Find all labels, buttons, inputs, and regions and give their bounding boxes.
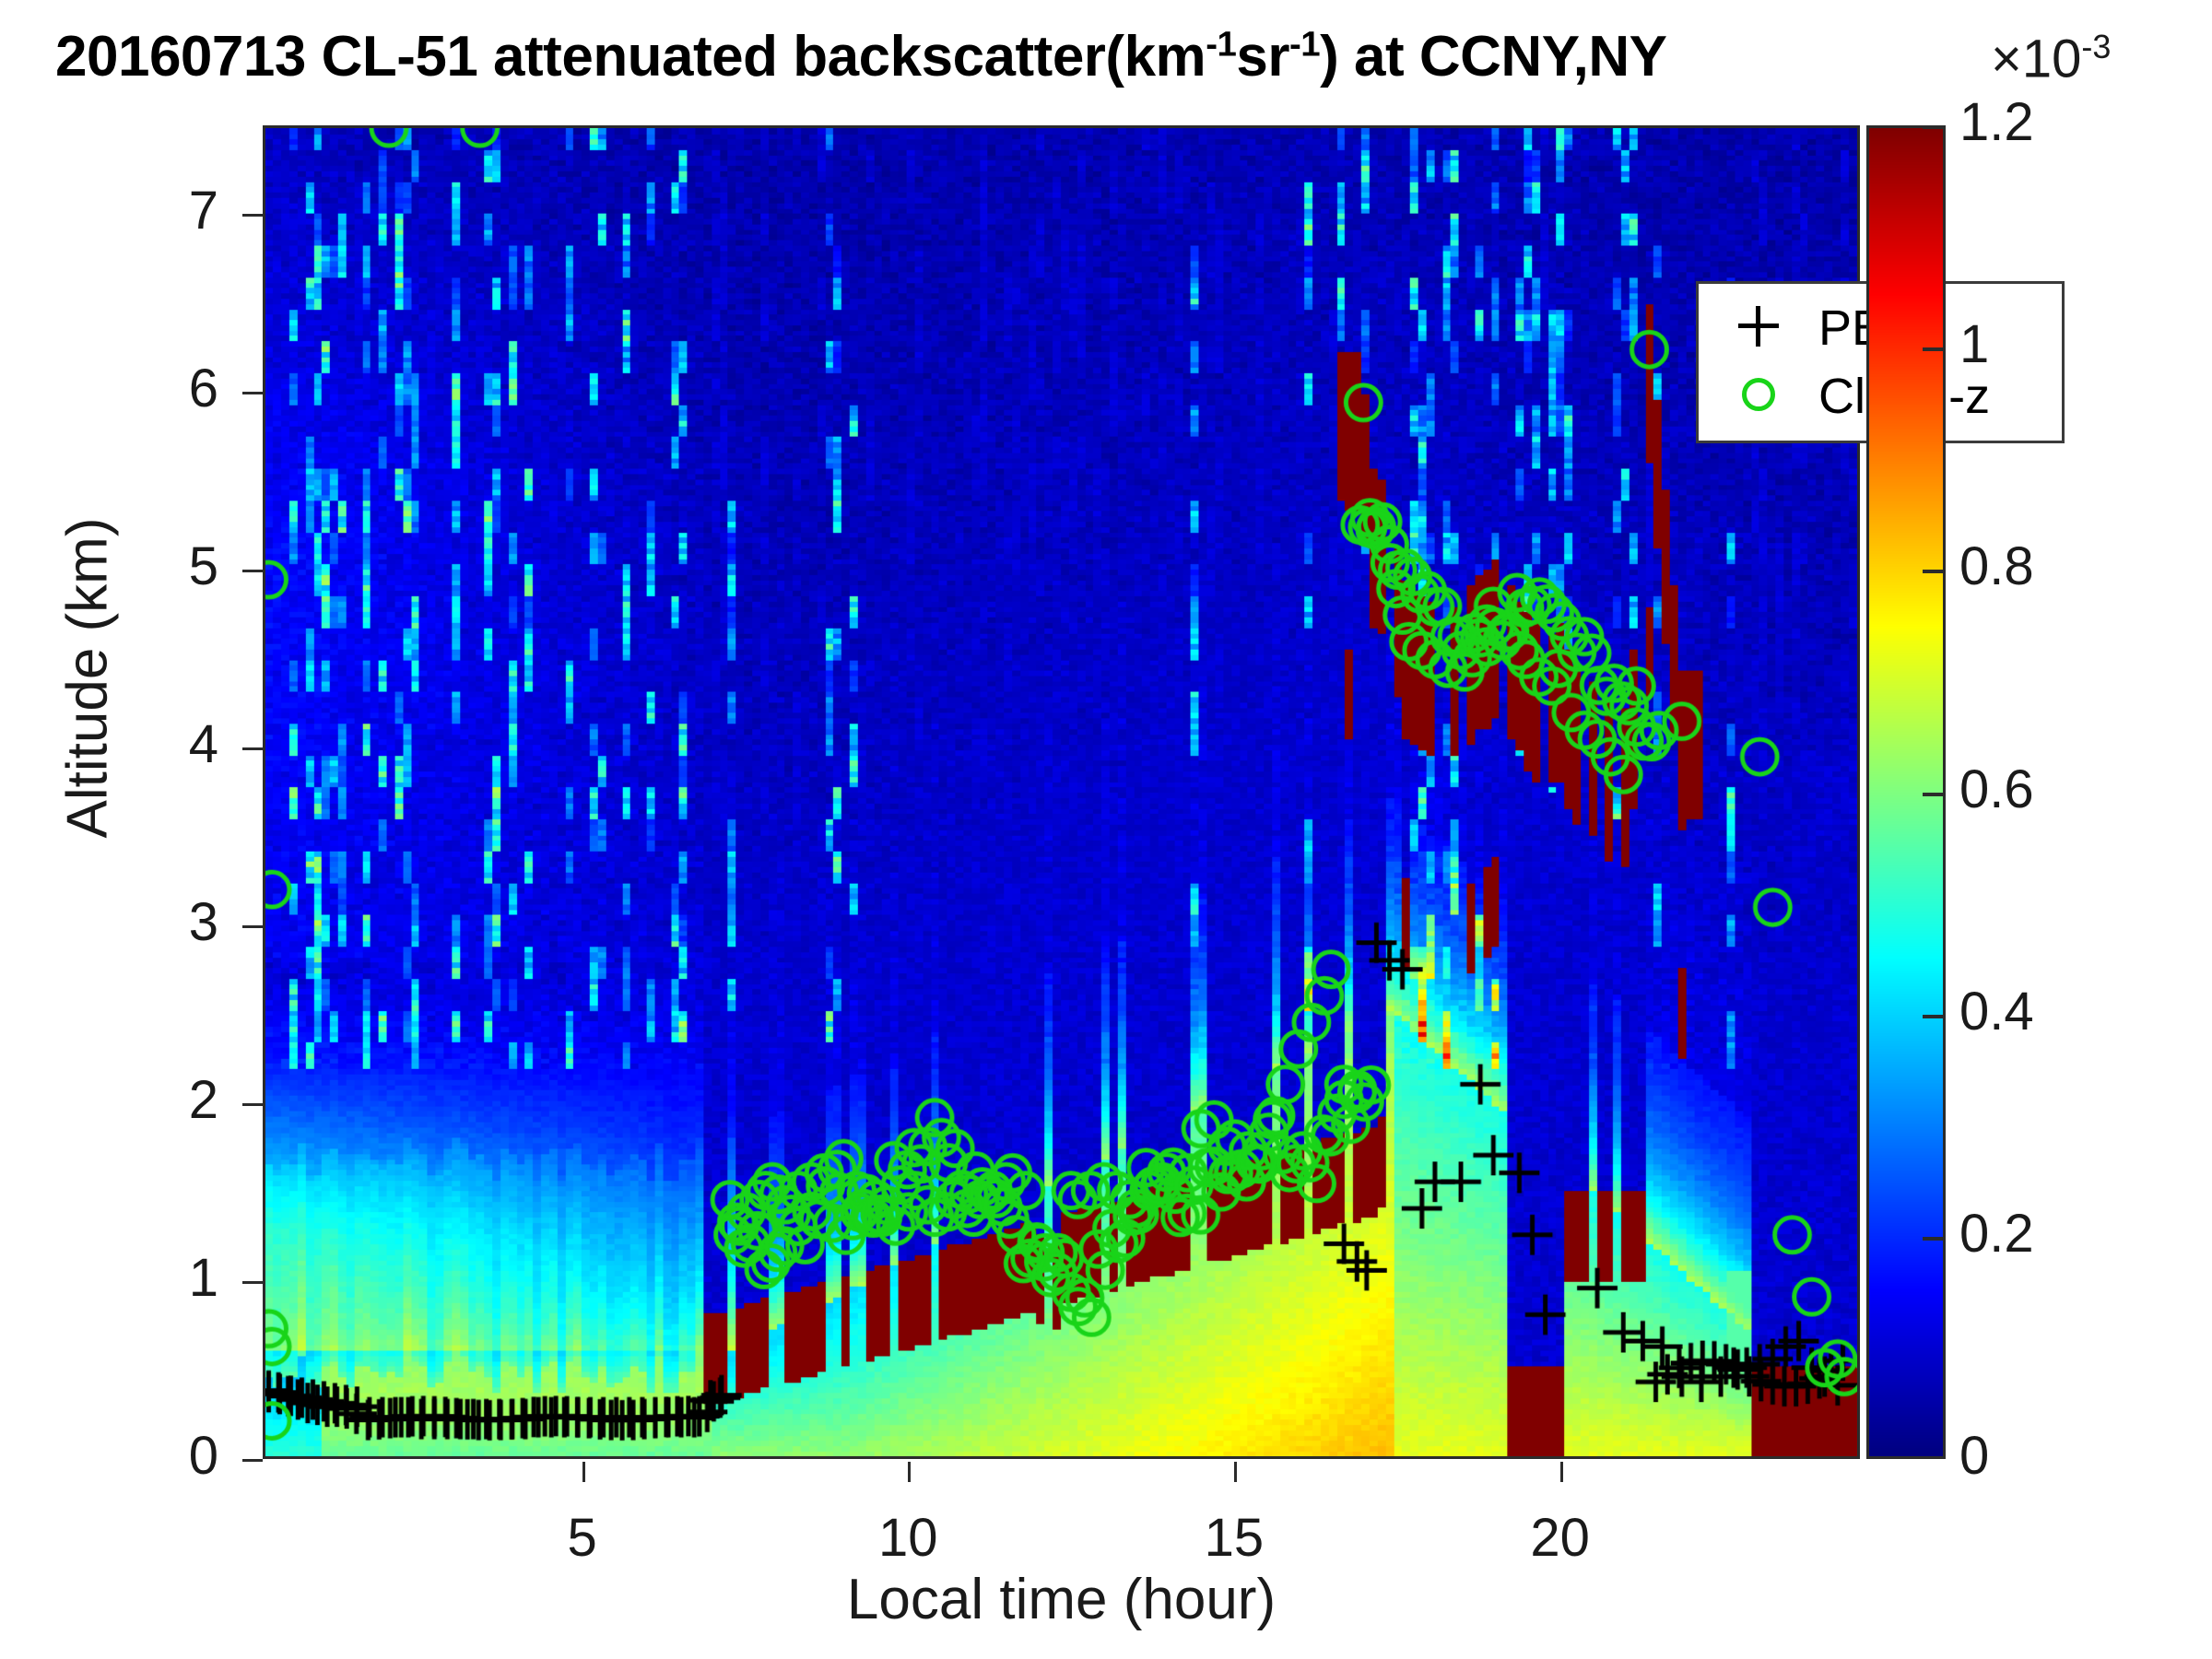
title-superscript-2: -1 — [1289, 24, 1320, 64]
y-tick — [242, 1281, 263, 1284]
y-axis-label: Altitude (km) — [55, 393, 121, 964]
y-tick — [242, 214, 263, 217]
colorbar-tick — [1923, 1015, 1943, 1018]
x-tick — [582, 1462, 585, 1482]
colorbar-tick-label: 0 — [1959, 1430, 1989, 1483]
x-tick-label: 15 — [1160, 1512, 1308, 1565]
page-title: 20160713 CL-51 attenuated backscatter(km… — [55, 24, 2157, 98]
colorbar-tick — [1923, 347, 1943, 351]
colorbar-tick — [1923, 1237, 1943, 1241]
y-tick-label: 6 — [108, 362, 218, 416]
title-superscript-1: -1 — [1206, 24, 1236, 64]
colorbar-tick — [1923, 793, 1943, 796]
x-tick-label: 10 — [834, 1512, 982, 1565]
title-mid: sr — [1236, 25, 1289, 88]
y-tick-label: 0 — [108, 1430, 218, 1483]
colorbar-tick — [1923, 125, 1943, 129]
x-axis-label: Local time (hour) — [263, 1567, 1860, 1632]
colorbar-tick-label: 0.8 — [1959, 540, 2034, 594]
y-tick-label: 1 — [108, 1252, 218, 1305]
colorbar-exponent-label: ×10-3 — [1991, 28, 2111, 89]
plot-area[interactable]: PBLH Cloud-z — [263, 125, 1860, 1459]
x-tick — [1234, 1462, 1237, 1482]
y-tick-label: 7 — [108, 184, 218, 238]
y-tick — [242, 747, 263, 750]
y-tick-label: 3 — [108, 896, 218, 949]
y-tick — [242, 1103, 263, 1106]
y-tick-label: 5 — [108, 540, 218, 594]
colorbar-tick-label: 0.6 — [1959, 763, 2034, 817]
x-tick — [1560, 1462, 1563, 1482]
x-tick-label: 20 — [1487, 1512, 1634, 1565]
y-tick — [242, 570, 263, 572]
plus-icon — [1699, 306, 1818, 351]
x-tick — [908, 1462, 911, 1482]
y-tick — [242, 925, 263, 928]
y-tick-label: 4 — [108, 718, 218, 771]
x-tick-label: 5 — [509, 1512, 656, 1565]
colorbar-tick-label: 0.2 — [1959, 1207, 2034, 1261]
title-main: 20160713 CL-51 attenuated backscatter(km — [55, 25, 1206, 88]
y-tick — [242, 1459, 263, 1462]
colorbar-tick-label: 1 — [1959, 318, 1989, 371]
circle-icon — [1699, 378, 1818, 416]
colorbar-tick-label: 0.4 — [1959, 985, 2034, 1039]
colorbar-exponent-base: 10 — [2022, 29, 2082, 88]
colorbar-tick-label: 1.2 — [1959, 96, 2034, 149]
ceilometer-backscatter-figure: 20160713 CL-51 attenuated backscatter(km… — [0, 0, 2212, 1659]
colorbar-tick — [1923, 570, 1943, 573]
colorbar-exponent-mult: × — [1991, 29, 2022, 88]
title-tail: ) at CCNY,NY — [1320, 25, 1666, 88]
y-tick-label: 2 — [108, 1074, 218, 1127]
y-tick — [242, 392, 263, 394]
marker-overlay — [265, 128, 1857, 1456]
colorbar-exponent-power: -3 — [2081, 28, 2111, 65]
